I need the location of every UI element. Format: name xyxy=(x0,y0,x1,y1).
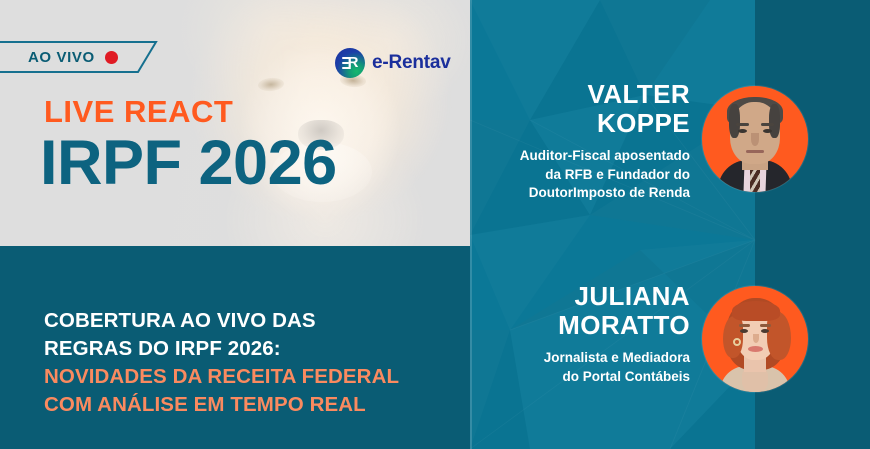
portrait-b-eye-left xyxy=(740,329,748,333)
speaker-1-first-name: VALTER xyxy=(470,80,690,109)
portrait-b-eye-right xyxy=(761,329,769,333)
subheadline: COBERTURA AO VIVO DAS REGRAS DO IRPF 202… xyxy=(44,307,464,419)
speaker-1-role-line-1: Auditor-Fiscal aposentado xyxy=(470,147,690,165)
logo-glyph: R xyxy=(342,56,359,70)
portrait-b-brow-left xyxy=(739,324,750,327)
logo-letter-r: R xyxy=(348,54,359,72)
subheadline-line-3: NOVIDADES DA RECEITA FEDERAL xyxy=(44,363,464,391)
portrait-b-brow-right xyxy=(760,324,771,327)
portrait-b-nose xyxy=(753,334,759,343)
portrait-b-curl-left xyxy=(723,316,743,358)
brand-logo[interactable]: R e-Rentav xyxy=(335,48,451,78)
speaker-1-role: Auditor-Fiscal aposentado da RFB e Funda… xyxy=(470,147,690,202)
speaker-2-avatar xyxy=(702,286,808,392)
brand-name: e-Rentav xyxy=(372,52,451,74)
portrait-a-eye-left xyxy=(738,129,747,133)
speaker-1-role-line-2: da RFB e Fundador do xyxy=(470,166,690,184)
portrait-b-earring xyxy=(733,338,741,346)
speaker-1-role-line-3: DoutorImposto de Renda xyxy=(470,184,690,202)
subheadline-line-4: COM ANÁLISE EM TEMPO REAL xyxy=(44,391,464,419)
portrait-a-eye-right xyxy=(763,129,772,133)
valter-koppe-photo xyxy=(702,86,808,192)
speaker-1-avatar xyxy=(702,86,808,192)
portrait-a-hair-left xyxy=(729,104,740,138)
portrait-b-fringe xyxy=(732,301,780,321)
portrait-a-brow-right xyxy=(761,123,774,126)
subheadline-line-2: REGRAS DO IRPF 2026: xyxy=(44,335,464,363)
page-title: IRPF 2026 xyxy=(40,130,337,196)
portrait-a-brow-left xyxy=(736,123,749,126)
portrait-a-nose xyxy=(751,133,759,146)
left-column: AO VIVO R e-Rentav LIVE REACT IRPF 2026 … xyxy=(0,0,470,449)
speaker-2-role-line-2: do Portal Contábeis xyxy=(470,368,690,386)
speaker-2-role-line-1: Jornalista e Mediadora xyxy=(470,349,690,367)
headline-kicker: LIVE REACT xyxy=(44,94,233,130)
portrait-a-tie xyxy=(750,168,760,192)
subheadline-line-1: COBERTURA AO VIVO DAS xyxy=(44,307,464,335)
portrait-a-hair-right xyxy=(769,104,780,138)
speaker-2-name: JULIANA MORATTO xyxy=(470,282,690,340)
speaker-2-last-name: MORATTO xyxy=(470,311,690,340)
speaker-1-text: VALTER KOPPE Auditor-Fiscal aposentado d… xyxy=(470,80,690,202)
portrait-a-mouth xyxy=(746,150,764,153)
speaker-1-name: VALTER KOPPE xyxy=(470,80,690,138)
speaker-2-text: JULIANA MORATTO Jornalista e Mediadora d… xyxy=(470,282,690,386)
speaker-2-first-name: JULIANA xyxy=(470,282,690,311)
live-dot-icon xyxy=(105,51,118,64)
live-event-banner: AO VIVO R e-Rentav LIVE REACT IRPF 2026 … xyxy=(0,0,870,449)
live-badge: AO VIVO xyxy=(0,41,170,73)
juliana-moratto-photo xyxy=(702,286,808,392)
right-column: VALTER KOPPE Auditor-Fiscal aposentado d… xyxy=(470,0,870,449)
speaker-2-role: Jornalista e Mediadora do Portal Contábe… xyxy=(470,349,690,386)
e-rentav-logo-icon: R xyxy=(335,48,365,78)
speaker-1-last-name: KOPPE xyxy=(470,109,690,138)
portrait-b-lips xyxy=(748,346,763,352)
live-badge-label: AO VIVO xyxy=(28,41,95,73)
